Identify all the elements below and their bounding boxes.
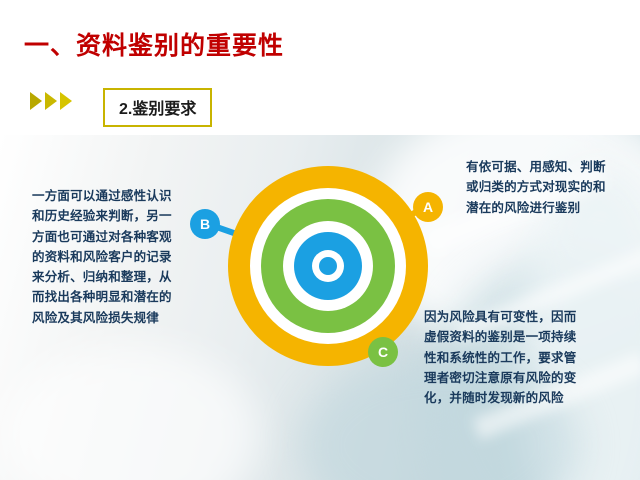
photo-highlight xyxy=(0,345,260,480)
marker-b: B xyxy=(190,209,220,239)
arrow-group-icon xyxy=(30,92,72,110)
chevron-right-icon xyxy=(45,92,57,110)
slide: 一、资料鉴别的重要性 2.鉴别要求 A B C 一方面可以通过感性认识和历史经验… xyxy=(0,0,640,480)
marker-c: C xyxy=(368,337,398,367)
chevron-right-icon xyxy=(60,92,72,110)
target-rings-icon xyxy=(228,166,428,366)
marker-a: A xyxy=(413,192,443,222)
chevron-right-icon xyxy=(30,92,42,110)
text-block-c: 因为风险具有可变性，因而虚假资料的鉴别是一项持续性和系统性的工作，要求管理者密切… xyxy=(424,307,584,408)
subtitle-label: 2.鉴别要求 xyxy=(119,101,196,118)
text-block-b: 一方面可以通过感性认识和历史经验来判断，另一方面也可通过对各种客观的资料和风险客… xyxy=(32,186,182,328)
subtitle-box: 2.鉴别要求 xyxy=(103,88,212,127)
text-block-a: 有依可据、用感知、判断或归类的方式对现实的和潜在的风险进行鉴别 xyxy=(466,157,616,218)
ring-bullseye xyxy=(319,257,337,275)
page-title: 一、资料鉴别的重要性 xyxy=(24,26,284,62)
